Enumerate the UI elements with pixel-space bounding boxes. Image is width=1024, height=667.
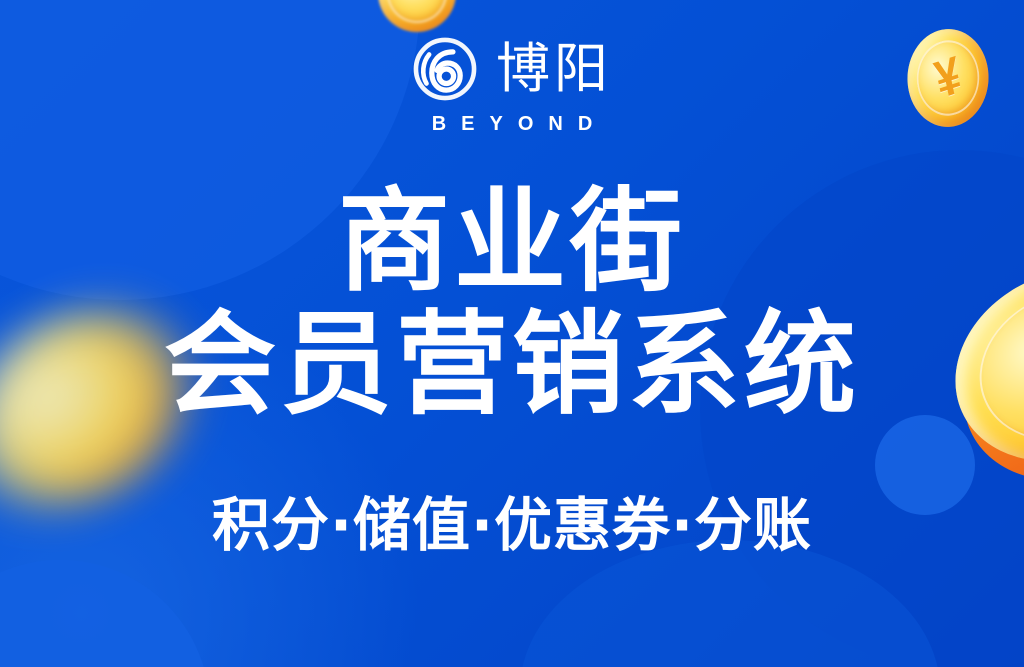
headline-line-2: 会员营销系统	[0, 303, 1024, 428]
subheadline: 积分·储值·优惠券·分账	[0, 478, 1024, 562]
headline-line-1: 商业街	[0, 182, 1024, 303]
decor-circle-bottom-left	[0, 560, 210, 667]
logo-row: 博阳	[412, 36, 612, 102]
beyond-circular-logo-icon	[412, 36, 478, 102]
coin-rim	[380, 0, 454, 30]
headline: 商业街 会员营销系统	[0, 182, 1024, 428]
brand-name-cn: 博阳	[496, 42, 612, 96]
brand-name-en: BEYOND	[417, 113, 608, 136]
coin-face	[370, 0, 465, 40]
coin-top-center-icon	[370, 0, 465, 40]
promo-banner: ¥ 博阳 BEYOND 商业街 会员营销系统	[0, 0, 1024, 667]
brand-logo: 博阳 BEYOND	[0, 36, 1024, 136]
